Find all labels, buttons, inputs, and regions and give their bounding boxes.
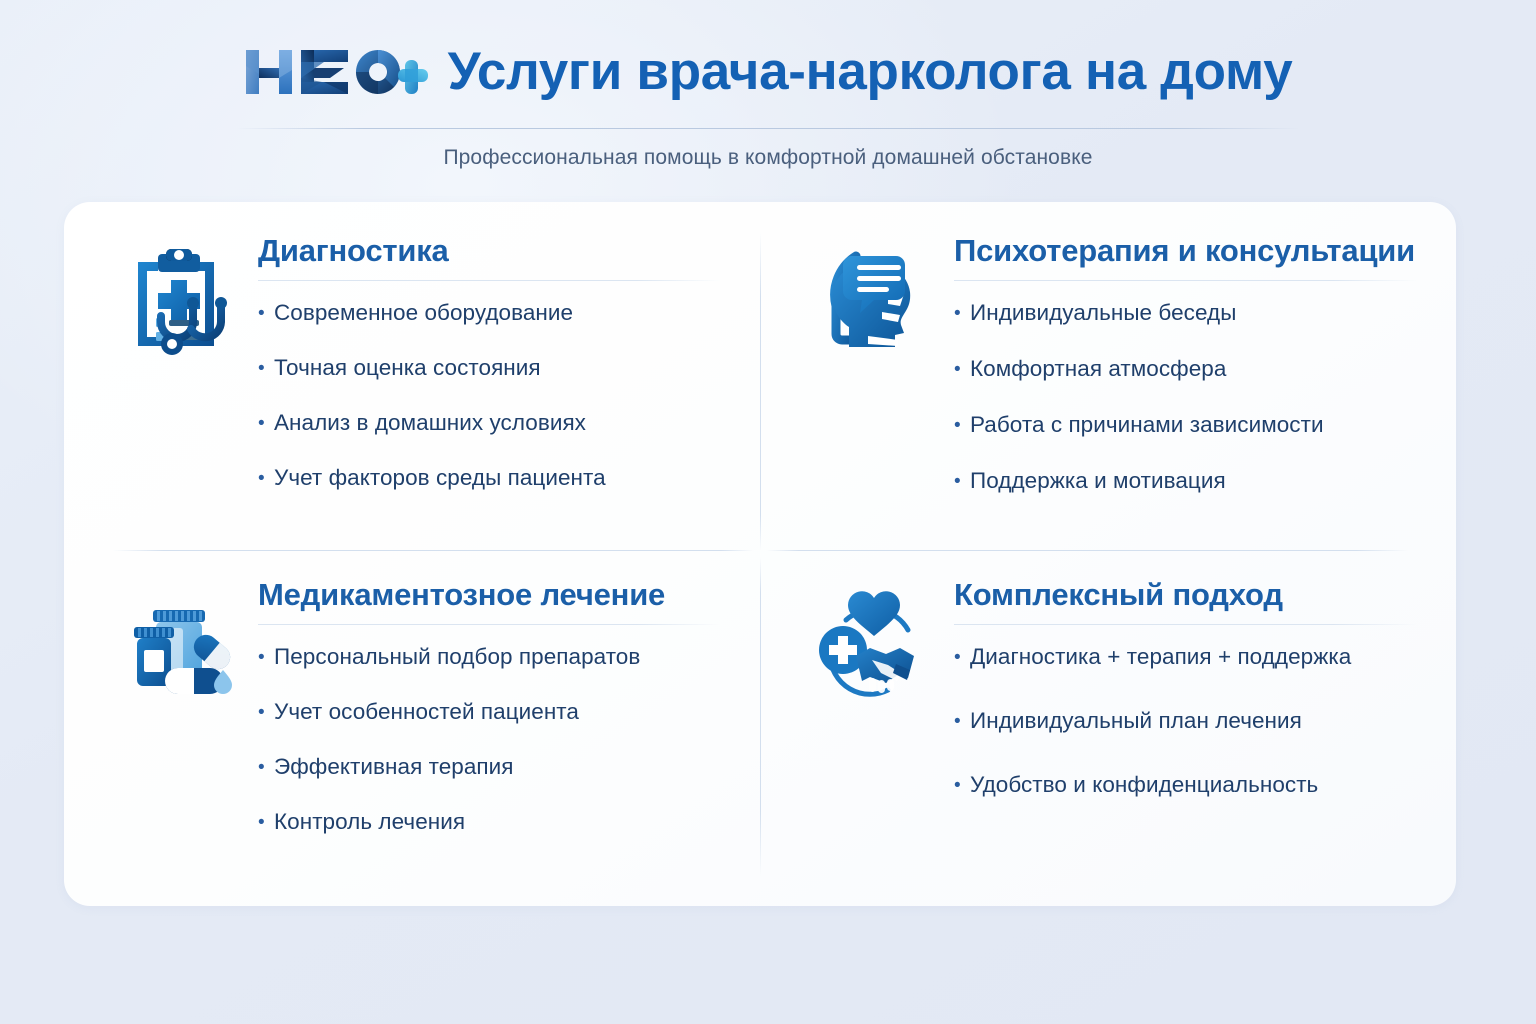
card-bullet-list: • Персональный подбор препаратов • Учет … <box>258 643 720 837</box>
list-item-label: Эффективная терапия <box>274 753 514 781</box>
service-card-complex-approach[interactable]: Комплексный подход • Диагностика + терап… <box>760 554 1456 906</box>
list-item-label: Комфортная атмосфера <box>970 355 1226 383</box>
card-bullet-list: • Индивидуальные беседы • Комфортная атм… <box>954 299 1416 496</box>
page-header: Услуги врача-нарколога на дому Профессио… <box>0 0 1536 196</box>
card-title: Комплексный подход <box>954 578 1416 612</box>
list-item-label: Анализ в домашних условиях <box>274 409 586 437</box>
bullet-marker: • <box>954 304 970 323</box>
list-item-label: Работа с причинами зависимости <box>970 411 1324 439</box>
bullet-marker: • <box>258 648 274 667</box>
heart-handshake-cross-icon <box>812 584 938 710</box>
bullet-marker: • <box>954 776 970 795</box>
bullet-marker: • <box>954 360 970 379</box>
list-item: • Работа с причинами зависимости <box>954 411 1416 439</box>
horizontal-divider <box>112 550 1408 551</box>
list-item-label: Поддержка и мотивация <box>970 467 1226 495</box>
card-title-divider <box>258 280 720 281</box>
list-item-label: Контроль лечения <box>274 808 465 836</box>
bullet-marker: • <box>258 469 274 488</box>
page-title: Услуги врача-нарколога на дому <box>448 44 1293 100</box>
list-item: • Учет факторов среды пациента <box>258 464 720 492</box>
bullet-marker: • <box>258 414 274 433</box>
card-title-divider <box>954 624 1416 625</box>
card-body: Диагностика • Современное оборудование •… <box>258 232 720 493</box>
list-item: • Анализ в домашних условиях <box>258 409 720 437</box>
neo-plus-logo <box>244 44 430 100</box>
list-item: • Контроль лечения <box>258 808 720 836</box>
bullet-marker: • <box>258 758 274 777</box>
list-item: • Индивидуальные беседы <box>954 299 1416 327</box>
list-item: • Точная оценка состояния <box>258 354 720 382</box>
clipboard-stethoscope-icon <box>116 240 242 366</box>
header-row: Услуги врача-нарколога на дому <box>0 44 1536 100</box>
bullet-marker: • <box>954 712 970 731</box>
services-panel: Диагностика • Современное оборудование •… <box>64 202 1456 906</box>
service-card-psychotherapy[interactable]: Психотерапия и консультации • Индивидуал… <box>760 202 1456 554</box>
list-item: • Диагностика + терапия + поддержка <box>954 643 1416 671</box>
list-item: • Эффективная терапия <box>258 753 720 781</box>
list-item-label: Индивидуальный план лечения <box>970 707 1302 735</box>
card-body: Психотерапия и консультации • Индивидуал… <box>954 232 1416 524</box>
list-item-label: Точная оценка состояния <box>274 354 541 382</box>
card-body: Медикаментозное лечение • Персональный п… <box>258 576 720 837</box>
list-item-label: Персональный подбор препаратов <box>274 643 640 671</box>
card-bullet-list: • Диагностика + терапия + поддержка • Ин… <box>954 643 1416 799</box>
list-item: • Современное оборудование <box>258 299 720 327</box>
card-title: Медикаментозное лечение <box>258 578 720 612</box>
card-title-divider <box>954 280 1416 281</box>
list-item: • Поддержка и мотивация <box>954 467 1416 495</box>
list-item: • Учет особенностей пациента <box>258 698 720 726</box>
bullet-marker: • <box>258 304 274 323</box>
infographic-page: Услуги врача-нарколога на дому Профессио… <box>0 0 1536 1024</box>
list-item-label: Диагностика + терапия + поддержка <box>970 643 1351 671</box>
vertical-divider <box>760 232 761 876</box>
bullet-marker: • <box>954 472 970 491</box>
bullet-marker: • <box>258 813 274 832</box>
bullet-marker: • <box>954 648 970 667</box>
card-bullet-list: • Современное оборудование • Точная оцен… <box>258 299 720 493</box>
service-card-diagnostics[interactable]: Диагностика • Современное оборудование •… <box>64 202 760 554</box>
list-item: • Комфортная атмосфера <box>954 355 1416 383</box>
head-speech-bubble-icon <box>812 240 938 366</box>
list-item-label: Учет факторов среды пациента <box>274 464 606 492</box>
list-item-label: Современное оборудование <box>274 299 573 327</box>
list-item: • Удобство и конфиденциальность <box>954 771 1416 799</box>
service-card-medication[interactable]: Медикаментозное лечение • Персональный п… <box>64 554 760 906</box>
bullet-marker: • <box>954 416 970 435</box>
card-body: Комплексный подход • Диагностика + терап… <box>954 576 1416 835</box>
page-subtitle: Профессиональная помощь в комфортной дом… <box>0 146 1536 170</box>
bullet-marker: • <box>258 359 274 378</box>
card-title-divider <box>258 624 720 625</box>
card-title: Психотерапия и консультации <box>954 234 1416 268</box>
bullet-marker: • <box>258 703 274 722</box>
list-item-label: Удобство и конфиденциальность <box>970 771 1318 799</box>
card-title: Диагностика <box>258 234 720 268</box>
services-grid: Диагностика • Современное оборудование •… <box>64 202 1456 906</box>
header-divider <box>236 128 1300 129</box>
list-item-label: Индивидуальные беседы <box>970 299 1236 327</box>
list-item: • Персональный подбор препаратов <box>258 643 720 671</box>
list-item: • Индивидуальный план лечения <box>954 707 1416 735</box>
list-item-label: Учет особенностей пациента <box>274 698 579 726</box>
pill-bottles-capsules-icon <box>116 584 242 710</box>
